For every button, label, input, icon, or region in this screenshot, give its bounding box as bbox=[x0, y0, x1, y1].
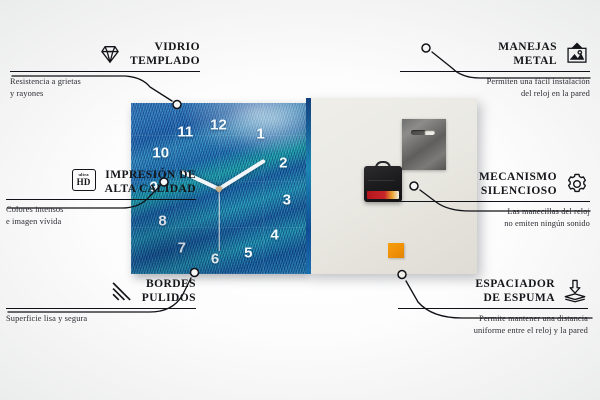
diagonal-stripes-icon bbox=[109, 278, 135, 304]
feature-mecanismo-silencioso[interactable]: MECANISMO SILENCIOSO Las manecillas del … bbox=[400, 170, 590, 229]
feature-title: ESPACIADOR DE ESPUMA bbox=[475, 277, 555, 305]
feature-description: Resistencia a grietas y rayones bbox=[10, 76, 200, 99]
ultra-hd-icon-main: HD bbox=[77, 178, 91, 187]
mechanism-hook bbox=[375, 161, 391, 169]
clock-numeral: 7 bbox=[178, 241, 186, 256]
feature-title: MANEJAS METAL bbox=[498, 40, 557, 68]
hand-center-cap bbox=[216, 186, 222, 192]
feature-description: Las manecillas del reloj no emiten ningú… bbox=[400, 206, 590, 229]
divider bbox=[400, 71, 590, 72]
feature-description: Colores intensos e imagen vívida bbox=[6, 204, 196, 227]
minute-hand bbox=[217, 158, 265, 190]
feature-title: IMPRESIÓN DE ALTA CALIDAD bbox=[105, 168, 196, 196]
divider bbox=[6, 199, 196, 200]
feature-description: Permiten una fácil instalación del reloj… bbox=[400, 76, 590, 99]
clock-numeral: 5 bbox=[244, 246, 252, 261]
feature-manejas-metal[interactable]: MANEJAS METAL Permiten una fácil instala… bbox=[400, 40, 590, 99]
clock-numeral: 6 bbox=[211, 251, 219, 266]
feature-description: Permite mantener una distancia uniforme … bbox=[398, 313, 588, 336]
metal-hanger-plate bbox=[402, 119, 446, 170]
clock-mechanism bbox=[364, 166, 402, 202]
hanger-slot bbox=[411, 130, 435, 135]
feature-impresion-alta-calidad[interactable]: ultra HD IMPRESIÓN DE ALTA CALIDAD Color… bbox=[6, 168, 196, 227]
feature-title: MECANISMO SILENCIOSO bbox=[479, 170, 557, 198]
mechanism-detail-line bbox=[368, 180, 395, 181]
feature-espaciador-de-espuma[interactable]: ESPACIADOR DE ESPUMA Permite mantener un… bbox=[398, 277, 588, 336]
clock-numeral: 3 bbox=[283, 193, 291, 208]
foam-spacer bbox=[388, 243, 404, 258]
mechanism-label bbox=[367, 191, 399, 199]
infographic-canvas: 12 1 2 3 4 5 6 7 8 9 10 11 bbox=[0, 0, 600, 400]
clock-numeral: 2 bbox=[279, 155, 287, 170]
feature-description: Superficie lisa y segura bbox=[6, 313, 196, 324]
divider bbox=[10, 71, 200, 72]
gear-icon bbox=[564, 171, 590, 197]
divider bbox=[398, 308, 588, 309]
picture-frame-icon bbox=[564, 41, 590, 67]
ultra-hd-icon: ultra HD bbox=[72, 169, 98, 195]
clock-numeral: 10 bbox=[152, 145, 169, 160]
feature-bordes-pulidos[interactable]: BORDES PULIDOS Superficie lisa y segura bbox=[6, 277, 196, 325]
clock-numeral: 12 bbox=[210, 118, 227, 133]
divider bbox=[6, 308, 196, 309]
feature-vidrio-templado[interactable]: VIDRIO TEMPLADO Resistencia a grietas y … bbox=[10, 40, 200, 99]
feature-title: VIDRIO TEMPLADO bbox=[130, 40, 200, 68]
diamond-icon bbox=[97, 41, 123, 67]
clock-numeral: 11 bbox=[177, 125, 193, 140]
clock-numeral: 1 bbox=[256, 126, 264, 141]
arrow-down-layers-icon bbox=[562, 278, 588, 304]
second-hand bbox=[218, 189, 219, 251]
feature-title: BORDES PULIDOS bbox=[142, 277, 196, 305]
divider bbox=[400, 201, 590, 202]
clock-numeral: 4 bbox=[270, 227, 278, 242]
